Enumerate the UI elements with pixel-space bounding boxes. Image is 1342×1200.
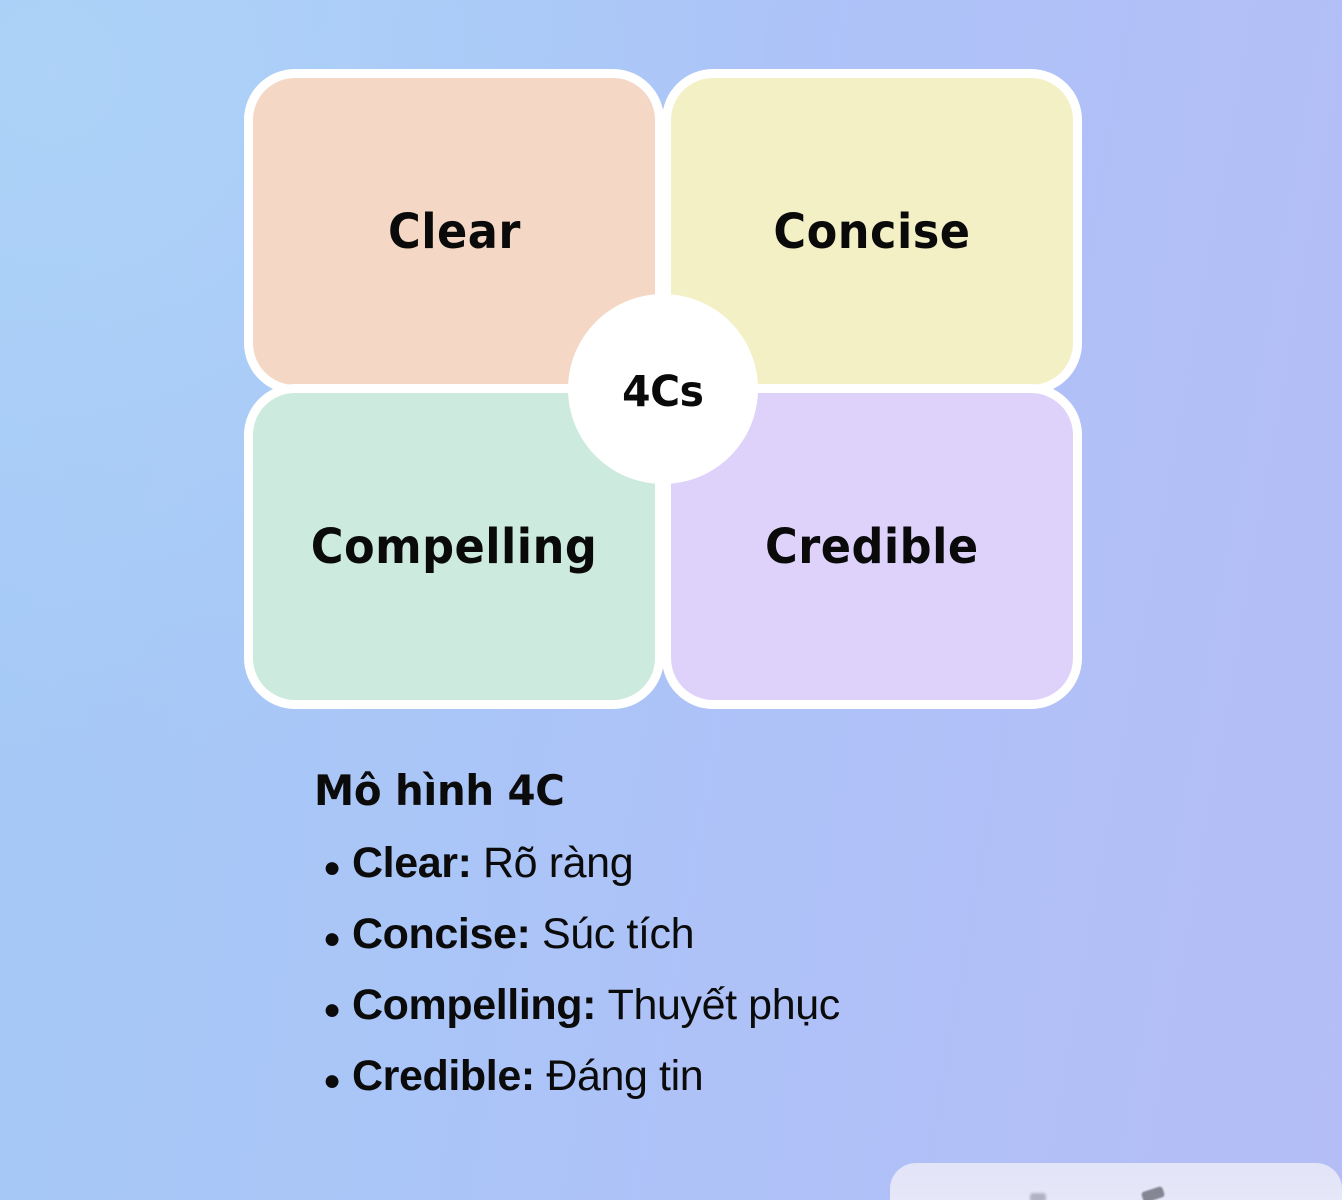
bottom-input-panel[interactable] (890, 1163, 1342, 1200)
summary-heading: Mô hình 4C (314, 768, 1101, 814)
bullet-icon: ● (314, 1066, 352, 1096)
quadrant-label-compelling: Compelling (311, 519, 597, 575)
list-item: ● Clear: Rõ ràng (314, 836, 1134, 891)
bullet-icon: ● (314, 924, 352, 954)
panel-cursor-icon (1141, 1186, 1165, 1200)
bullet-icon: ● (314, 853, 352, 883)
quadrant-label-credible: Credible (765, 519, 979, 575)
list-item-desc: Rõ ràng (483, 836, 633, 891)
diagram-center-label: 4Cs (622, 367, 703, 417)
panel-mark-icon (1030, 1193, 1046, 1200)
list-item-desc: Đáng tin (546, 1049, 703, 1104)
list-item-term: Concise: (352, 907, 542, 962)
list-item-desc: Thuyết phục (608, 978, 840, 1033)
summary-block: Mô hình 4C ● Clear: Rõ ràng ● Concise: S… (314, 768, 1134, 1120)
quadrant-label-clear: Clear (388, 204, 521, 260)
list-item-term: Clear: (352, 836, 483, 891)
page-canvas: Clear Concise Compelling Credible 4Cs Mô… (0, 0, 1342, 1200)
bullet-icon: ● (314, 995, 352, 1025)
list-item-term: Compelling: (352, 978, 608, 1033)
list-item: ● Compelling: Thuyết phục (314, 978, 1134, 1033)
diagram-center-hub: 4Cs (568, 294, 758, 484)
four-cs-diagram: Clear Concise Compelling Credible 4Cs (253, 78, 1073, 700)
list-item: ● Concise: Súc tích (314, 907, 1134, 962)
list-item-desc: Súc tích (542, 907, 694, 962)
quadrant-label-concise: Concise (773, 204, 970, 260)
list-item: ● Credible: Đáng tin (314, 1049, 1134, 1104)
list-item-term: Credible: (352, 1049, 546, 1104)
